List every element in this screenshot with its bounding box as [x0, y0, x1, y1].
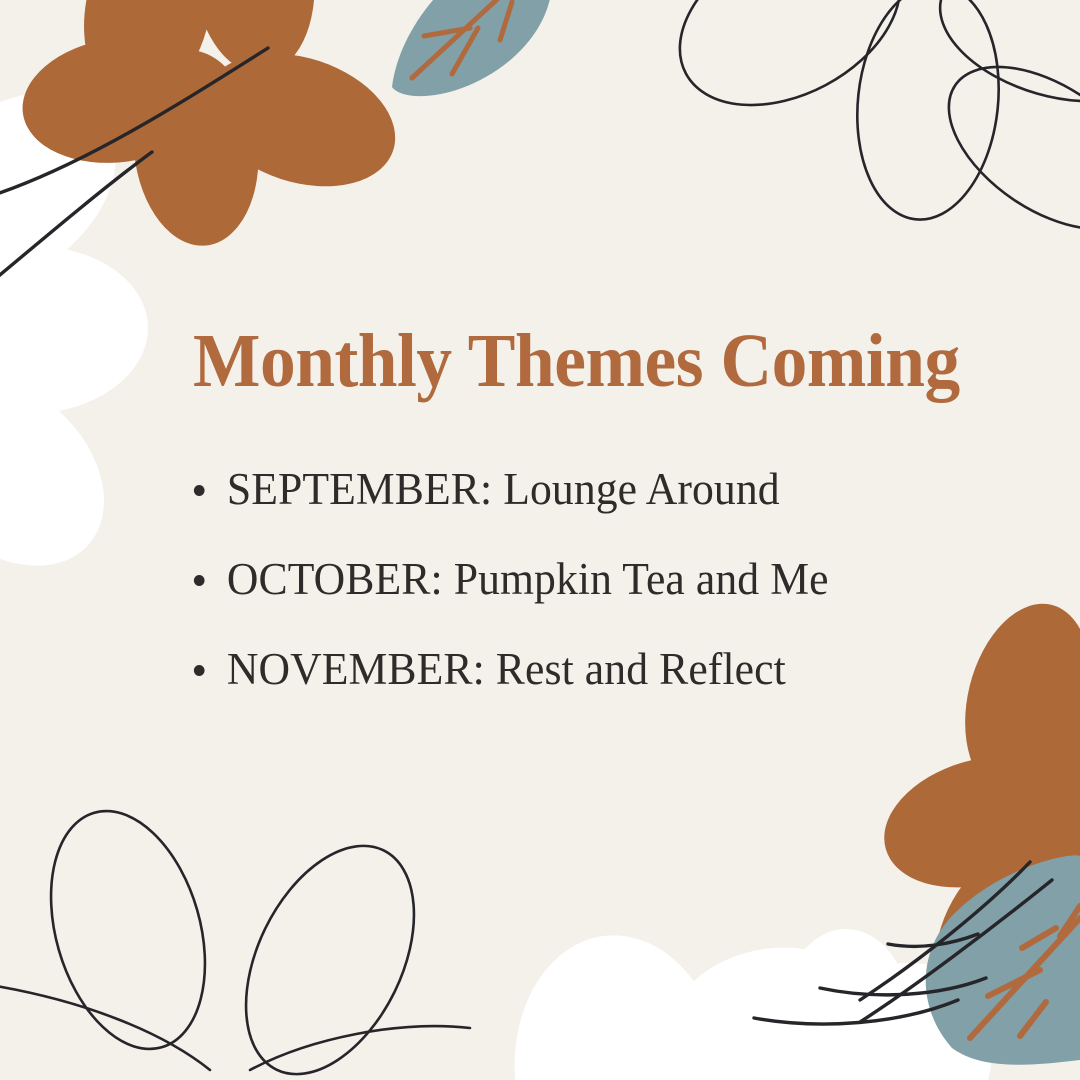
bullet-icon: [194, 485, 205, 496]
list-item: NOVEMBER: Rest and Reflect: [190, 638, 1024, 728]
list-item-label: NOVEMBER: Rest and Reflect: [227, 644, 786, 694]
poster-canvas: Monthly Themes Coming SEPTEMBER: Lounge …: [0, 0, 1080, 1080]
bullet-icon: [194, 575, 205, 586]
monthly-themes-list: SEPTEMBER: Lounge Around OCTOBER: Pumpki…: [190, 458, 1050, 728]
list-item-label: OCTOBER: Pumpkin Tea and Me: [227, 554, 829, 604]
list-item: OCTOBER: Pumpkin Tea and Me: [190, 548, 1024, 638]
list-item-label: SEPTEMBER: Lounge Around: [227, 464, 780, 514]
page-title: Monthly Themes Coming: [193, 313, 983, 409]
poster-content: Monthly Themes Coming SEPTEMBER: Lounge …: [0, 0, 1080, 1080]
bullet-icon: [194, 665, 205, 676]
list-item: SEPTEMBER: Lounge Around: [190, 458, 1024, 548]
